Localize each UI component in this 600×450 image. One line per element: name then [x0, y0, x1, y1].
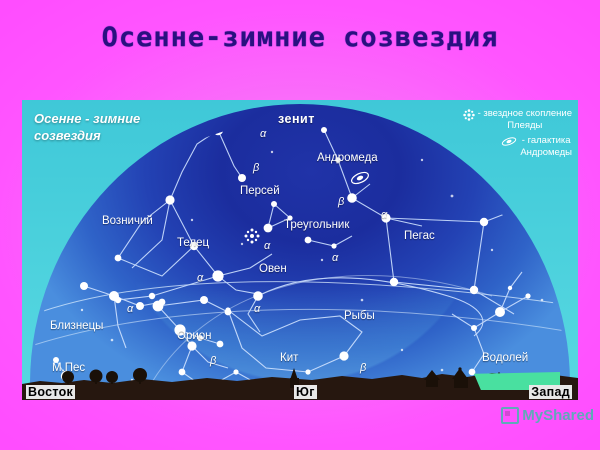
- andromeda-galaxy-icon: [350, 170, 370, 186]
- slide: Осенне-зимние созвездия Осенне - зимние …: [0, 0, 600, 450]
- direction-label-south: Юг: [294, 385, 317, 399]
- direction-label-west: Запад: [529, 385, 572, 399]
- constellation-label-aries: Овен: [259, 263, 287, 275]
- pleiades-cluster-icon: [245, 229, 260, 244]
- constellation-label-pegasus: Пегас: [404, 230, 435, 242]
- constellation-label-perseus: Персей: [240, 185, 280, 197]
- constellation-label-andromeda: Андромеда: [317, 152, 378, 164]
- star-label-taurus-alpha: α: [197, 272, 203, 284]
- constellation-label-pisces: Рыбы: [344, 310, 375, 322]
- star-label-cetus-alpha: α: [254, 303, 260, 315]
- myshared-logo-icon: [501, 407, 519, 424]
- star-label-triangulum-alpha: α: [264, 240, 270, 252]
- star-label-perseus-alpha: α: [260, 128, 266, 140]
- star-label-gemini-alpha: α: [127, 303, 133, 315]
- watermark: MyShared: [501, 407, 594, 424]
- page-title: Осенне-зимние созвездия: [0, 22, 600, 53]
- constellation-label-orion: Орион: [177, 330, 212, 342]
- star-label-perseus-beta: β: [253, 162, 259, 174]
- star-map: Осенне - зимние созвездия: [22, 100, 578, 400]
- constellation-label-cetus: Кит: [280, 352, 298, 364]
- constellation-label-triangulum: Треугольник: [284, 219, 349, 231]
- star-label-aries-alpha: α: [332, 252, 338, 264]
- constellation-label-auriga: Возничий: [102, 215, 153, 227]
- star-label-andromeda-beta: β: [338, 196, 344, 208]
- watermark-text: MyShared: [522, 407, 594, 424]
- constellation-label-gemini: Близнецы: [50, 320, 103, 332]
- star-label-andromeda-alpha: α: [381, 209, 387, 221]
- direction-label-east: Восток: [26, 385, 75, 399]
- constellation-label-aquarius: Водолей: [482, 352, 528, 364]
- constellation-label-taurus: Телец: [177, 237, 209, 249]
